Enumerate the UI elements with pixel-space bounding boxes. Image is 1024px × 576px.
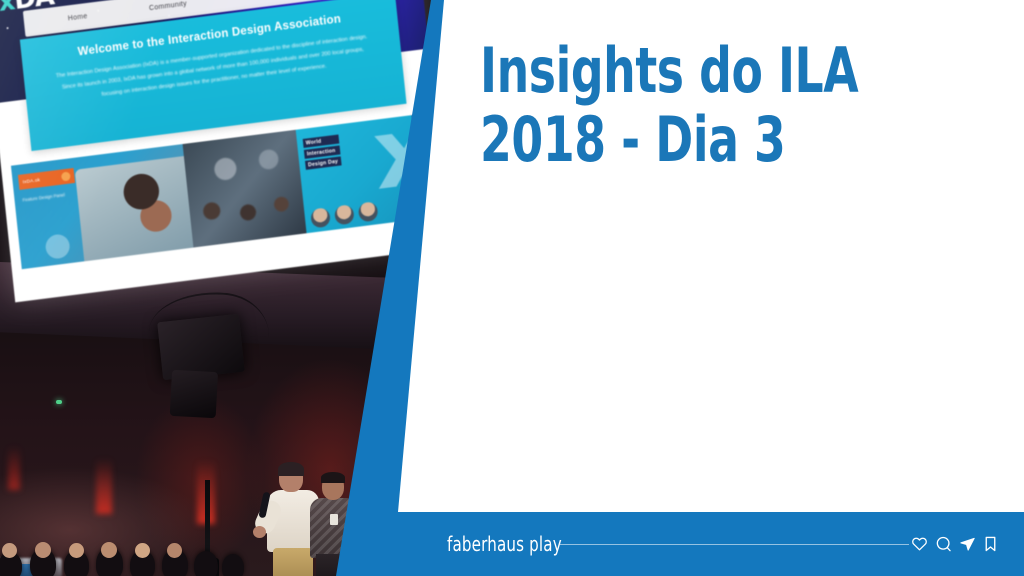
widd-speaker-avatars (310, 201, 378, 228)
projector-rig (157, 314, 245, 380)
footer-bar: faberhaus play (0, 512, 1024, 576)
footer-divider (560, 544, 909, 545)
card-feature-portrait: IxDA.ok Feature Design Panel (11, 144, 194, 269)
avatar (357, 201, 378, 222)
heart-icon[interactable] (911, 536, 928, 553)
title-card: Insights do ILA2018 - Dia 3 (398, 0, 1024, 512)
footer-brand: faberhaus play (447, 532, 562, 556)
avatar (310, 207, 331, 228)
comment-icon[interactable] (935, 536, 952, 553)
avatar (334, 204, 355, 225)
stage-light-left (8, 446, 20, 490)
green-led-icon (56, 400, 62, 404)
title-line-2: 2018 - Dia 3 (480, 103, 785, 176)
card-crowd-photo (183, 130, 306, 248)
orange-tag-label: IxDA.ok (22, 177, 40, 184)
footer-social-icons (911, 536, 998, 553)
bookmark-icon[interactable] (983, 536, 998, 553)
welcome-body: The Interaction Design Association (IxDA… (49, 30, 376, 107)
orange-tag: IxDA.ok (18, 168, 75, 190)
card-side-caption: Feature Design Panel (22, 191, 65, 205)
share-icon[interactable] (959, 536, 976, 553)
widd-line-3: Design Day (305, 156, 342, 169)
card-circle-accent (44, 233, 70, 260)
nav-item-community[interactable]: Community (149, 0, 188, 12)
title-line-1: Insights do ILA (480, 34, 858, 107)
widd-badge: World Interaction Design Day (302, 135, 341, 170)
portrait-image (75, 154, 194, 267)
orange-tag-dot-icon (61, 171, 71, 181)
page-title: Insights do ILA2018 - Dia 3 (480, 36, 858, 175)
slide-root: IxIxDADA Home Community Events Welcome t… (0, 0, 1024, 576)
nav-item-home[interactable]: Home (67, 13, 87, 22)
